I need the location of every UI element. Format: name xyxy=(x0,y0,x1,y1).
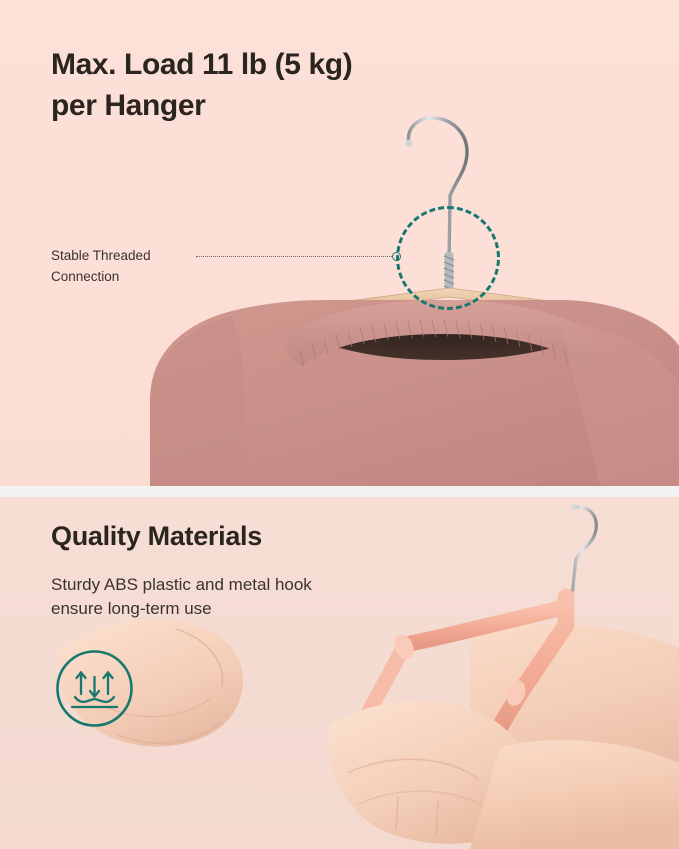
page-title: Max. Load 11 lb (5 kg) per Hanger xyxy=(51,44,481,127)
bottom-feature-panel: Quality Materials Sturdy ABS plastic and… xyxy=(0,497,679,849)
plastic-hook-tip xyxy=(571,504,577,510)
dashed-highlight-circle-icon xyxy=(396,206,500,310)
section-heading-quality-materials: Quality Materials xyxy=(51,521,262,552)
panel-divider xyxy=(0,486,679,497)
callout-label-stable-threaded-connection: Stable Threaded Connection xyxy=(51,246,211,287)
hook-tip xyxy=(406,140,413,147)
dotted-leader-line-icon xyxy=(196,256,392,258)
flexibility-resilience-icon xyxy=(55,649,134,728)
right-arm-foreground xyxy=(470,740,679,849)
plastic-hanger-metal-hook xyxy=(572,507,596,597)
infographic-page: Max. Load 11 lb (5 kg) per Hanger Stable… xyxy=(0,0,679,849)
top-feature-panel: Max. Load 11 lb (5 kg) per Hanger Stable… xyxy=(0,0,679,486)
sweater-left-sleeve xyxy=(150,316,246,486)
section-body-text: Sturdy ABS plastic and metal hook ensure… xyxy=(51,573,411,621)
